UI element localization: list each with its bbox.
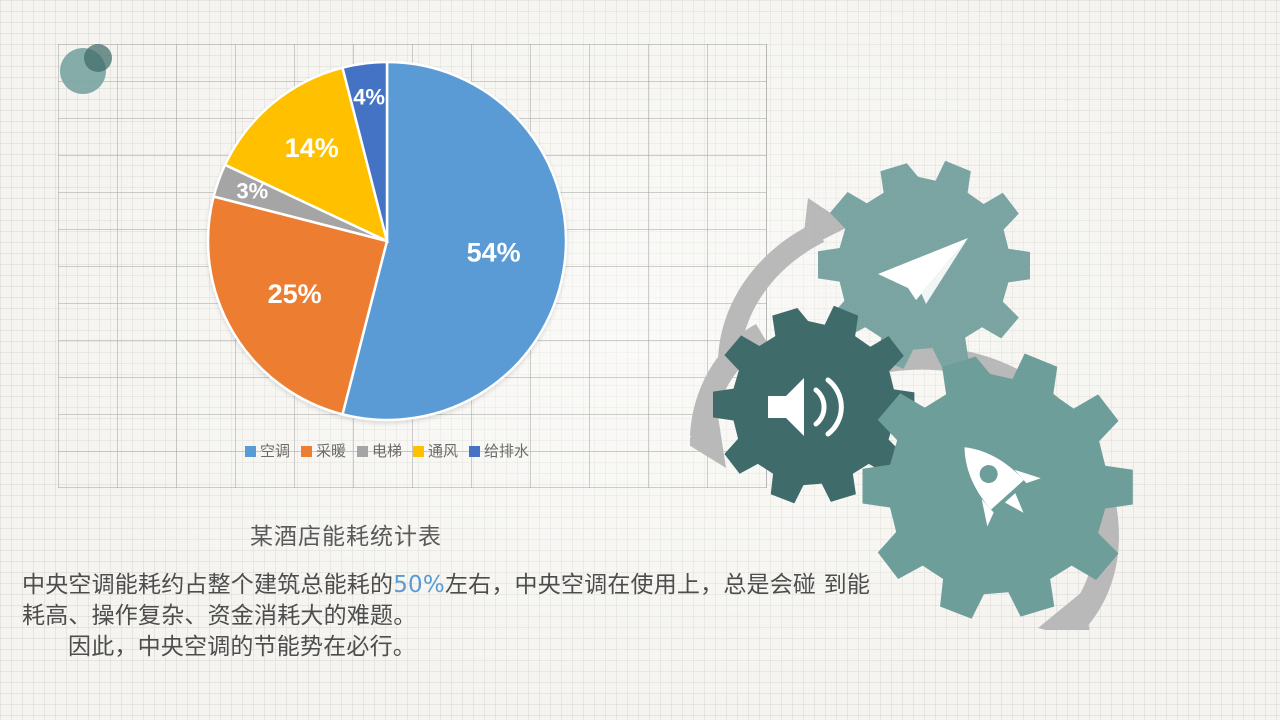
legend-swatch [245, 446, 256, 457]
legend-label: 通风 [428, 444, 458, 459]
legend-label: 采暖 [316, 444, 346, 459]
legend-item[interactable]: 通风 [413, 444, 458, 459]
legend-swatch [301, 446, 312, 457]
circles-logo [58, 42, 114, 96]
pie-chart[interactable]: 54%25%3%14%4% [206, 60, 568, 422]
pie-slice-label: 25% [268, 279, 322, 309]
legend-swatch [357, 446, 368, 457]
logo-circle-small [84, 44, 112, 72]
pie-slice-label: 4% [353, 85, 385, 110]
chart-title: 某酒店能耗统计表 [250, 517, 442, 551]
gears-illustration [690, 150, 1280, 630]
body-highlight-50: 50% [393, 572, 445, 598]
pie-slice-label: 54% [467, 238, 521, 268]
legend-label: 电梯 [372, 444, 402, 459]
legend-label: 给排水 [484, 444, 529, 459]
legend-item[interactable]: 采暖 [301, 444, 346, 459]
legend-item[interactable]: 给排水 [469, 444, 529, 459]
legend-swatch [413, 446, 424, 457]
pie-slice-label: 3% [236, 178, 268, 203]
body-line1-part1: 中央空调能耗约占整个建筑总能耗的 [22, 572, 393, 598]
legend-swatch [469, 446, 480, 457]
pie-slice-label: 14% [285, 133, 339, 163]
chart-legend: 空调采暖电梯通风给排水 [206, 440, 568, 462]
legend-item[interactable]: 空调 [245, 444, 290, 459]
legend-item[interactable]: 电梯 [357, 444, 402, 459]
body-line3: 因此，中央空调的节能势在必行。 [22, 632, 872, 663]
legend-label: 空调 [260, 444, 290, 459]
